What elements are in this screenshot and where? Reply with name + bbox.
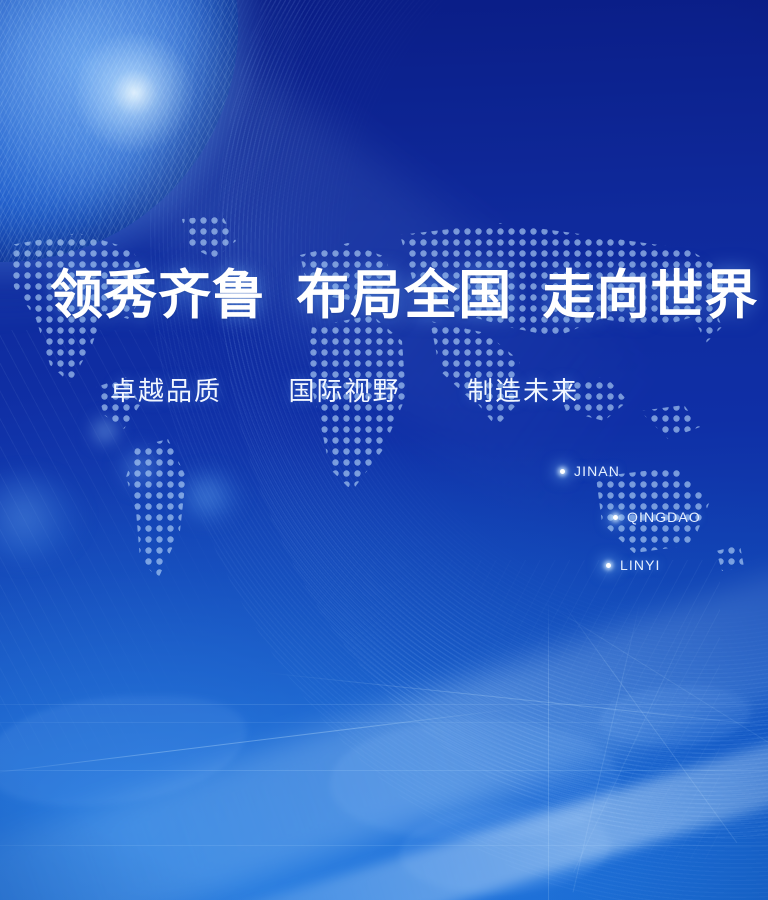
headline-segment-3: 走向世界 bbox=[543, 267, 759, 325]
grid-line-horizontal bbox=[0, 704, 768, 705]
light-streak-bright bbox=[55, 641, 768, 900]
arc-lines-secondary-icon bbox=[148, 0, 768, 900]
globe-rim-light bbox=[0, 0, 244, 268]
city-marker-jinan[interactable]: JINAN bbox=[560, 463, 620, 479]
arc-lines-icon bbox=[218, 0, 768, 840]
page-subtitle: 卓越品质 国际视野 制造未来 bbox=[110, 371, 710, 408]
perspective-grid-floor bbox=[0, 600, 768, 900]
floor-continent-shadow bbox=[389, 806, 621, 894]
vignette-overlay bbox=[0, 0, 768, 900]
grid-line-horizontal bbox=[0, 770, 768, 771]
subtitle-segment-1: 卓越品质 bbox=[110, 377, 222, 406]
city-label: LINYI bbox=[620, 557, 661, 573]
headline-segment-2: 布局全国 bbox=[296, 267, 512, 325]
map-pin-icon bbox=[560, 469, 565, 474]
grid-line-vertical bbox=[573, 600, 701, 872]
grid-line-horizontal bbox=[0, 845, 768, 846]
light-streak-lower bbox=[0, 490, 768, 900]
glow-orb-4 bbox=[0, 472, 84, 562]
globe-icon bbox=[0, 0, 238, 262]
page-title: 领秀齐鲁 布局全国 走向世界 bbox=[50, 268, 730, 325]
banner-hero: 领秀齐鲁 布局全国 走向世界 卓越品质 国际视野 制造未来 JINAN QING… bbox=[0, 0, 768, 900]
grid-line-vertical bbox=[573, 600, 641, 892]
globe-body bbox=[0, 0, 238, 262]
horizon-hairline bbox=[0, 708, 518, 777]
glow-orb-3 bbox=[172, 470, 242, 522]
city-marker-qingdao[interactable]: QINGDAO bbox=[613, 509, 701, 525]
city-label: JINAN bbox=[574, 463, 620, 479]
grid-line-vertical bbox=[548, 600, 549, 900]
glow-orb-1 bbox=[92, 418, 118, 444]
subtitle-segment-2: 国际视野 bbox=[289, 377, 401, 406]
floor-continent-shadow bbox=[313, 720, 637, 840]
grid-line-vertical bbox=[540, 600, 768, 759]
map-pin-icon bbox=[606, 563, 611, 568]
globe-texture bbox=[0, 0, 238, 262]
floor-continent-shadow bbox=[0, 696, 262, 806]
headline-segment-1: 领秀齐鲁 bbox=[50, 267, 266, 325]
city-label: QINGDAO bbox=[627, 509, 701, 525]
horizon-hairline bbox=[261, 672, 768, 729]
grid-line-vertical bbox=[560, 600, 737, 843]
subtitle-segment-3: 制造未来 bbox=[467, 377, 579, 406]
ray-lines-right bbox=[300, 560, 720, 860]
city-marker-linyi[interactable]: LINYI bbox=[606, 557, 661, 573]
floor-continent-shadow bbox=[589, 686, 761, 746]
map-pin-icon bbox=[613, 515, 618, 520]
glow-orb-2 bbox=[118, 445, 164, 491]
grid-line-horizontal bbox=[0, 722, 768, 723]
